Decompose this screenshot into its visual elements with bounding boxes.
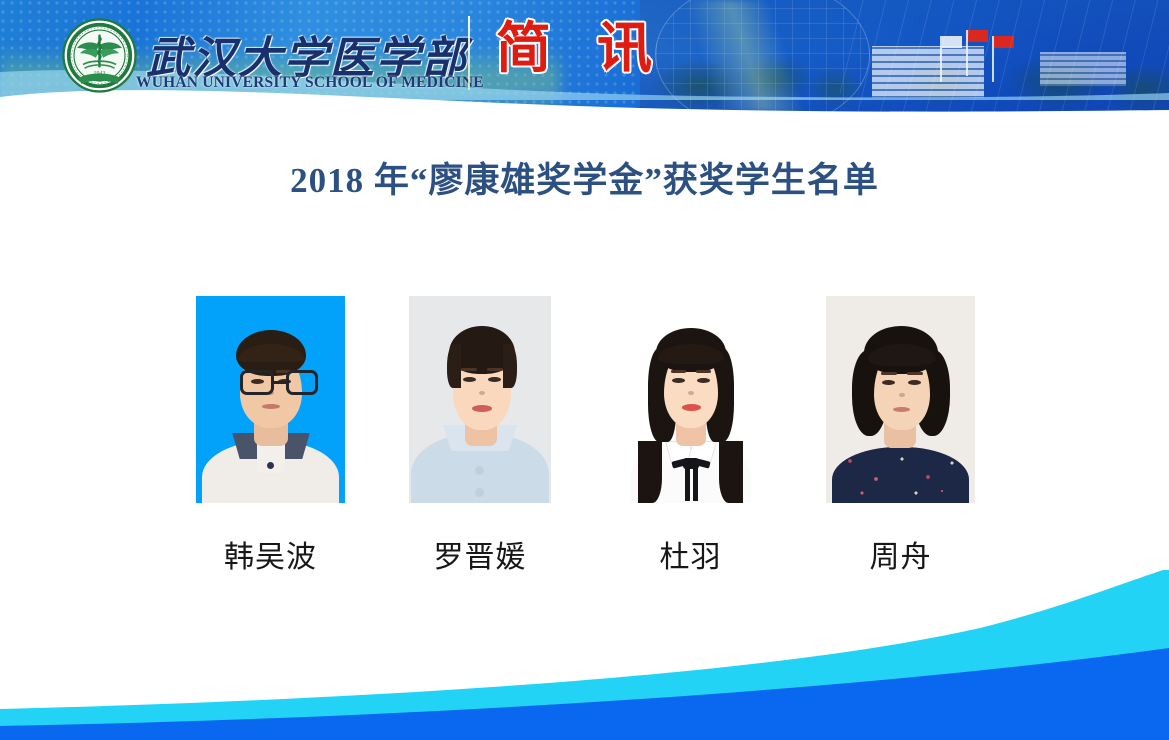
glasses-icon — [240, 370, 302, 398]
university-emblem-icon: 1943 — [62, 18, 137, 93]
page-title: 2018 年“廖康雄奖学金”获奖学生名单 — [0, 152, 1169, 203]
awardee-photo — [409, 296, 551, 503]
awardee-photo — [826, 296, 975, 503]
masthead-divider — [468, 16, 470, 90]
awardee-card: 韩吴波 — [196, 296, 345, 503]
awardee-card: 罗晋媛 — [409, 296, 551, 503]
awardee-photo — [196, 296, 345, 503]
newsletter-page: 1943 武汉大学医学部 WUHAN UNIVERSITY SCHOOL OF … — [0, 0, 1169, 740]
header-banner: 1943 武汉大学医学部 WUHAN UNIVERSITY SCHOOL OF … — [0, 0, 1169, 112]
awardee-card: 杜羽 — [616, 296, 765, 503]
footer-wave-decoration — [0, 570, 1169, 740]
awardee-card: 周舟 — [826, 296, 975, 503]
masthead-chinese-title: 武汉大学医学部 — [146, 22, 456, 74]
awardee-photo — [616, 296, 765, 503]
floral-pattern — [832, 447, 969, 503]
publication-name: 简讯 — [496, 17, 698, 81]
masthead-english-title: WUHAN UNIVERSITY SCHOOL OF MEDICINE — [136, 74, 456, 92]
awardee-photo-row: 韩吴波 — [0, 296, 1169, 504]
